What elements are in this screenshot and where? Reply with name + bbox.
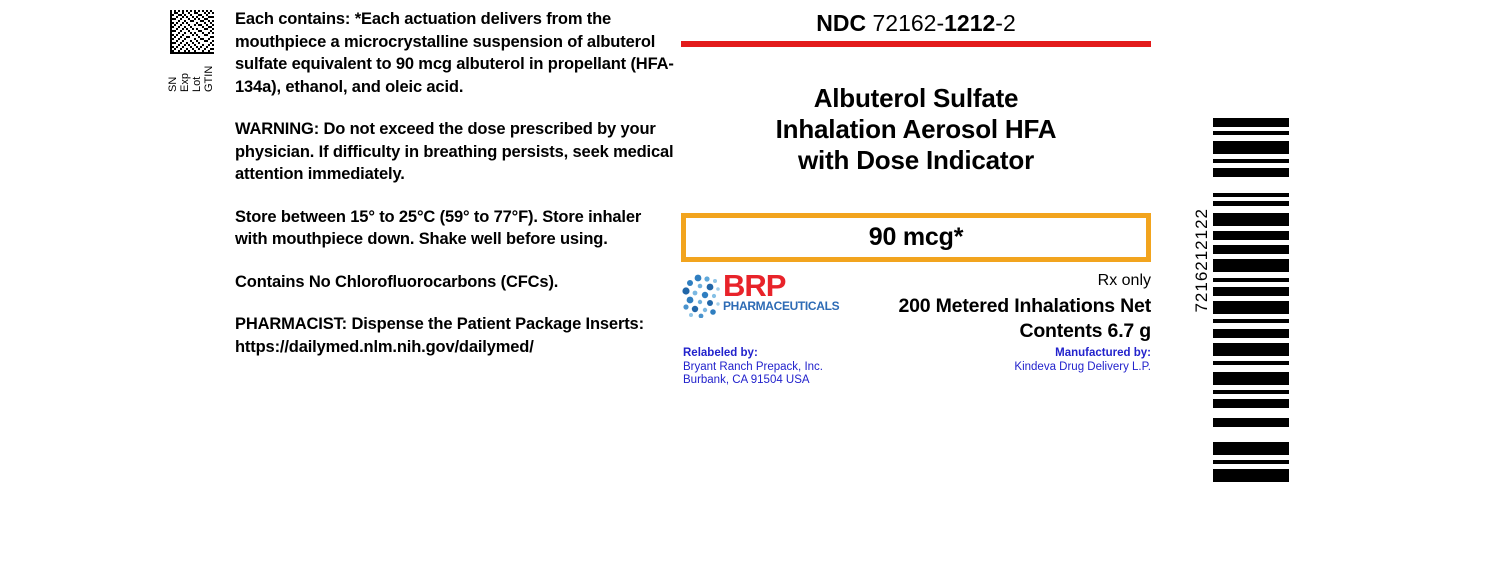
barcode-bar xyxy=(1213,141,1289,154)
product-title-line-1: Albuterol Sulfate xyxy=(681,83,1151,114)
product-title: Albuterol Sulfate Inhalation Aerosol HFA… xyxy=(681,83,1151,176)
manufacturer-footer: Relabeled by: Bryant Ranch Prepack, Inc.… xyxy=(681,347,1151,387)
barcode-bar xyxy=(1213,278,1289,282)
barcode-number-text: 7216212122 xyxy=(1192,208,1212,313)
label-body-text: Each contains: *Each actuation delivers … xyxy=(235,8,675,358)
brp-logo-subtitle: PHARMACEUTICALS xyxy=(723,301,839,314)
barcode-bar xyxy=(1213,159,1289,163)
manufacturer-name: Kindeva Drug Delivery L.P. xyxy=(1014,361,1151,375)
barcode-bar xyxy=(1213,418,1289,427)
red-divider-rule xyxy=(681,41,1151,47)
barcode-bar xyxy=(1213,319,1289,323)
barcode-bar xyxy=(1213,213,1289,226)
barcode-bar xyxy=(1213,131,1289,135)
product-title-line-2: Inhalation Aerosol HFA xyxy=(681,114,1151,145)
barcode-bar xyxy=(1213,168,1289,177)
datamatrix-label-lot: Lot xyxy=(192,56,203,92)
barcode-bar xyxy=(1213,460,1289,464)
storage-paragraph: Store between 15° to 25°C (59° to 77°F).… xyxy=(235,206,675,251)
strength-box: 90 mcg* xyxy=(681,213,1151,262)
linear-barcode-icon xyxy=(1213,118,1289,440)
manufactured-by-heading: Manufactured by: xyxy=(1014,347,1151,361)
barcode-bar xyxy=(1213,399,1289,408)
barcode-bar xyxy=(1213,245,1289,254)
rx-only-statement: Rx only xyxy=(851,271,1151,291)
pharmacist-instructions: PHARMACIST: Dispense the Patient Package… xyxy=(235,313,675,358)
barcode-bar xyxy=(1213,343,1289,356)
brp-dot-cluster-icon xyxy=(682,274,724,318)
manufactured-by-block: Manufactured by: Kindeva Drug Delivery L… xyxy=(1014,347,1151,374)
ingredients-paragraph: Each contains: *Each actuation delivers … xyxy=(235,8,675,98)
barcode-bar xyxy=(1213,201,1289,206)
ndc-number: NDC 72162-1212-2 xyxy=(681,0,1151,38)
datamatrix-label-exp: Exp xyxy=(180,56,191,92)
barcode-bar xyxy=(1213,361,1289,365)
datamatrix-block: SN Exp Lot GTIN xyxy=(168,10,230,90)
barcode-bar xyxy=(1213,287,1289,296)
datamatrix-label-sn: SN xyxy=(168,56,179,92)
drug-label-page: { "left_panel": { "datamatrix": { "icon"… xyxy=(0,0,1485,585)
barcode-bar xyxy=(1213,390,1289,394)
cfc-statement: Contains No Chlorofluorocarbons (CFCs). xyxy=(235,271,675,294)
barcode-bar xyxy=(1213,259,1289,272)
datamatrix-barcode-icon xyxy=(170,10,214,54)
barcode-bar xyxy=(1213,469,1289,482)
relabeler-name: Bryant Ranch Prepack, Inc. xyxy=(683,361,823,375)
barcode-bar xyxy=(1213,193,1289,197)
ndc-package-code: -2 xyxy=(995,10,1015,36)
datamatrix-label-gtin: GTIN xyxy=(204,56,215,92)
brp-logo-name: BRP xyxy=(723,271,835,301)
rx-and-contents-block: Rx only 200 Metered Inhalations Net Cont… xyxy=(851,271,1151,344)
relabeled-by-block: Relabeled by: Bryant Ranch Prepack, Inc.… xyxy=(683,347,823,388)
barcode-bar xyxy=(1213,231,1289,240)
principal-display-panel: NDC 72162-1212-2 Albuterol Sulfate Inhal… xyxy=(681,0,1151,387)
relabeled-by-heading: Relabeled by: xyxy=(683,347,823,361)
datamatrix-field-labels: SN Exp Lot GTIN xyxy=(168,56,228,92)
barcode-bar xyxy=(1213,442,1289,455)
barcode-bar xyxy=(1213,118,1289,127)
product-title-line-3: with Dose Indicator xyxy=(681,145,1151,176)
strength-value: 90 mcg* xyxy=(869,223,964,252)
barcode-bar xyxy=(1213,372,1289,385)
barcode-bar xyxy=(1213,301,1289,314)
upc-barcode-panel: 7216212122 xyxy=(1192,118,1292,440)
brp-logo-text: BRP PHARMACEUTICALS xyxy=(723,271,835,314)
net-contents-statement: 200 Metered Inhalations Net Contents 6.7… xyxy=(851,294,1151,344)
ndc-product-code: 1212 xyxy=(944,10,995,36)
barcode-bar xyxy=(1213,329,1289,338)
relabeler-address: Burbank, CA 91504 USA xyxy=(683,374,823,388)
ndc-prefix-label: NDC xyxy=(816,10,866,36)
logo-and-contents-row: BRP PHARMACEUTICALS Rx only 200 Metered … xyxy=(681,271,1151,341)
ndc-labeler-code: 72162- xyxy=(872,10,944,36)
warning-paragraph: WARNING: Do not exceed the dose prescrib… xyxy=(235,118,675,186)
brp-logo: BRP PHARMACEUTICALS xyxy=(682,272,827,320)
